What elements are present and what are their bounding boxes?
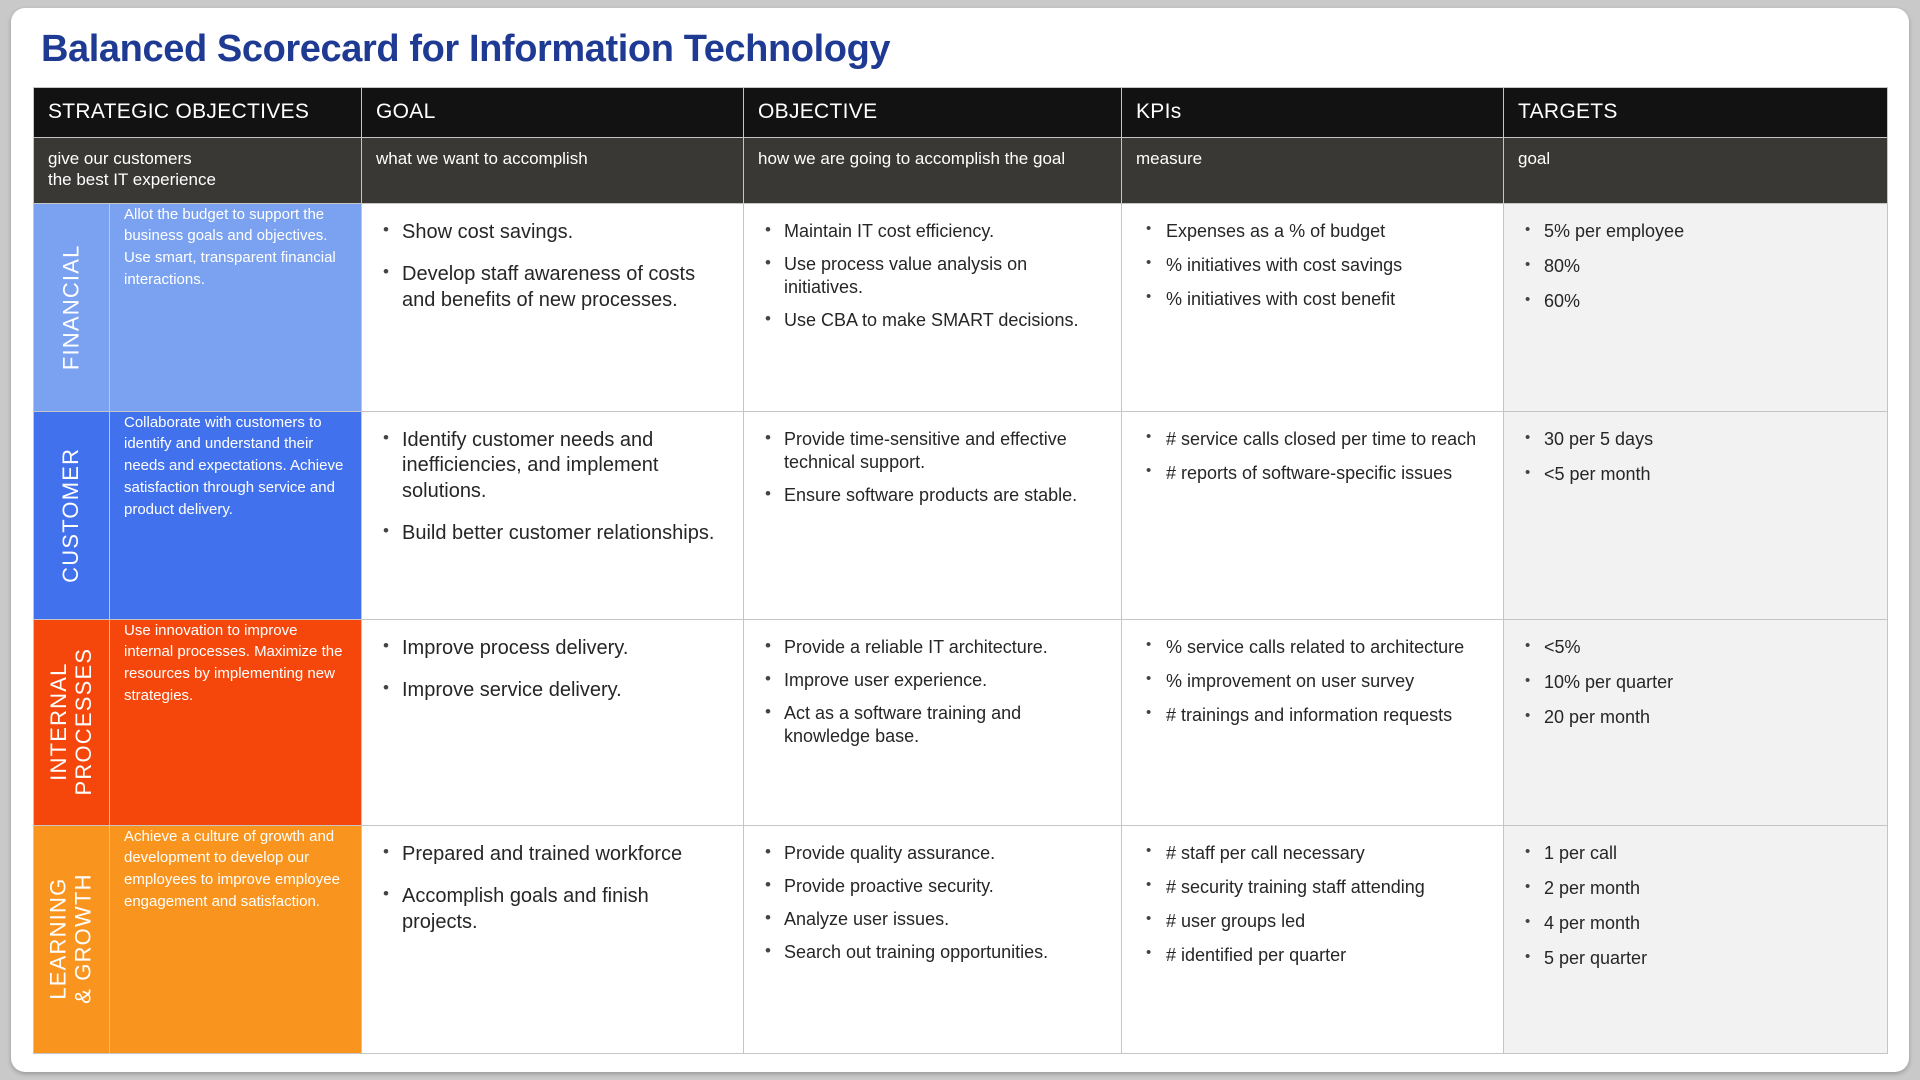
perspective-description-learning-growth: Achieve a culture of growth and developm… <box>110 825 362 1053</box>
target-item: 5 per quarter <box>1522 947 1869 970</box>
goal-item: Show cost savings. <box>380 220 725 246</box>
target-cell-customer: 30 per 5 days<5 per month <box>1504 411 1888 619</box>
perspective-description-customer: Collaborate with customers to identify a… <box>110 411 362 619</box>
perspective-label-rotator: LEARNING& GROWTH <box>34 826 109 1053</box>
objective-item: Use CBA to make SMART decisions. <box>762 309 1103 332</box>
subheader-strategic-objectives: give our customers the best IT experienc… <box>34 138 362 204</box>
kpi-list: % service calls related to architecture%… <box>1140 636 1485 727</box>
target-cell-learning-growth: 1 per call2 per month4 per month5 per qu… <box>1504 825 1888 1053</box>
perspective-label-financial: FINANCIAL <box>34 203 110 411</box>
kpi-item: Expenses as a % of budget <box>1140 220 1485 243</box>
goal-item: Accomplish goals and finish projects. <box>380 884 725 935</box>
objective-item: Analyze user issues. <box>762 908 1103 931</box>
goal-cell-learning-growth: Prepared and trained workforceAccomplish… <box>362 825 744 1053</box>
goal-item: Prepared and trained workforce <box>380 842 725 868</box>
scorecard-row-learning-growth: LEARNING& GROWTHAchieve a culture of gro… <box>34 825 1888 1053</box>
target-item: <5 per month <box>1522 463 1869 486</box>
objective-cell-learning-growth: Provide quality assurance.Provide proact… <box>744 825 1122 1053</box>
subheader-strategic-line1: give our customers <box>48 148 347 169</box>
target-item: 30 per 5 days <box>1522 428 1869 451</box>
target-item: <5% <box>1522 636 1869 659</box>
perspective-label-text: LEARNING& GROWTH <box>47 874 96 1005</box>
scorecard-row-internal-processes: INTERNALPROCESSESUse innovation to impro… <box>34 619 1888 825</box>
kpi-list: # staff per call necessary# security tra… <box>1140 842 1485 967</box>
kpi-item: # user groups led <box>1140 910 1485 933</box>
goal-list: Prepared and trained workforceAccomplish… <box>380 842 725 936</box>
target-list: 5% per employee80%60% <box>1522 220 1869 313</box>
objective-list: Provide a reliable IT architecture.Impro… <box>762 636 1103 748</box>
objective-item: Provide proactive security. <box>762 875 1103 898</box>
target-item: 5% per employee <box>1522 220 1869 243</box>
scorecard-row-customer: CUSTOMERCollaborate with customers to id… <box>34 411 1888 619</box>
objective-item: Act as a software training and knowledge… <box>762 702 1103 748</box>
goal-item: Identify customer needs and inefficienci… <box>380 428 725 505</box>
target-cell-financial: 5% per employee80%60% <box>1504 203 1888 411</box>
goal-item: Build better customer relationships. <box>380 521 725 547</box>
page-title: Balanced Scorecard for Information Techn… <box>33 8 1887 87</box>
objective-item: Improve user experience. <box>762 669 1103 692</box>
target-item: 20 per month <box>1522 706 1869 729</box>
goal-item: Develop staff awareness of costs and ben… <box>380 262 725 313</box>
objective-list: Provide quality assurance.Provide proact… <box>762 842 1103 964</box>
goal-cell-internal-processes: Improve process delivery.Improve service… <box>362 619 744 825</box>
page-root: Balanced Scorecard for Information Techn… <box>0 0 1920 1080</box>
objective-item: Use process value analysis on initiative… <box>762 253 1103 299</box>
objective-item: Provide quality assurance. <box>762 842 1103 865</box>
perspective-label-internal-processes: INTERNALPROCESSES <box>34 619 110 825</box>
objective-item: Provide a reliable IT architecture. <box>762 636 1103 659</box>
header-strategic-objectives: STRATEGIC OBJECTIVES <box>34 88 362 138</box>
target-list: 30 per 5 days<5 per month <box>1522 428 1869 486</box>
goal-list: Identify customer needs and inefficienci… <box>380 428 725 547</box>
header-kpis: KPIs <box>1122 88 1504 138</box>
target-cell-internal-processes: <5%10% per quarter20 per month <box>1504 619 1888 825</box>
header-targets: TARGETS <box>1504 88 1888 138</box>
target-list: 1 per call2 per month4 per month5 per qu… <box>1522 842 1869 970</box>
target-item: 2 per month <box>1522 877 1869 900</box>
objective-item: Maintain IT cost efficiency. <box>762 220 1103 243</box>
kpi-item: # identified per quarter <box>1140 944 1485 967</box>
goal-item: Improve service delivery. <box>380 678 725 704</box>
subheader-targets: goal <box>1504 138 1888 204</box>
target-item: 60% <box>1522 290 1869 313</box>
target-item: 4 per month <box>1522 912 1869 935</box>
objective-cell-internal-processes: Provide a reliable IT architecture.Impro… <box>744 619 1122 825</box>
kpi-cell-learning-growth: # staff per call necessary# security tra… <box>1122 825 1504 1053</box>
scorecard-card: Balanced Scorecard for Information Techn… <box>11 8 1909 1072</box>
subheader-strategic-line2: the best IT experience <box>48 169 347 190</box>
kpi-list: Expenses as a % of budget% initiatives w… <box>1140 220 1485 311</box>
objective-item: Search out training opportunities. <box>762 941 1103 964</box>
kpi-item: % initiatives with cost savings <box>1140 254 1485 277</box>
perspective-label-rotator: FINANCIAL <box>34 204 109 411</box>
kpi-item: % improvement on user survey <box>1140 670 1485 693</box>
table-header-row: STRATEGIC OBJECTIVES GOAL OBJECTIVE KPIs… <box>34 88 1888 138</box>
target-item: 10% per quarter <box>1522 671 1869 694</box>
subheader-goal: what we want to accomplish <box>362 138 744 204</box>
goal-list: Improve process delivery.Improve service… <box>380 636 725 704</box>
kpi-item: % service calls related to architecture <box>1140 636 1485 659</box>
perspective-label-text: INTERNALPROCESSES <box>47 648 96 796</box>
perspective-label-customer: CUSTOMER <box>34 411 110 619</box>
header-goal: GOAL <box>362 88 744 138</box>
goal-list: Show cost savings.Develop staff awarenes… <box>380 220 725 314</box>
target-item: 1 per call <box>1522 842 1869 865</box>
objective-cell-financial: Maintain IT cost efficiency.Use process … <box>744 203 1122 411</box>
perspective-label-text: FINANCIAL <box>59 244 84 370</box>
perspective-label-learning-growth: LEARNING& GROWTH <box>34 825 110 1053</box>
scorecard-row-financial: FINANCIALAllot the budget to support the… <box>34 203 1888 411</box>
kpi-cell-internal-processes: % service calls related to architecture%… <box>1122 619 1504 825</box>
kpi-item: % initiatives with cost benefit <box>1140 288 1485 311</box>
kpi-list: # service calls closed per time to reach… <box>1140 428 1485 485</box>
objective-list: Provide time-sensitive and effective tec… <box>762 428 1103 507</box>
perspective-description-financial: Allot the budget to support the business… <box>110 203 362 411</box>
kpi-cell-customer: # service calls closed per time to reach… <box>1122 411 1504 619</box>
table-subheader-row: give our customers the best IT experienc… <box>34 138 1888 204</box>
goal-cell-financial: Show cost savings.Develop staff awarenes… <box>362 203 744 411</box>
kpi-item: # reports of software-specific issues <box>1140 462 1485 485</box>
scorecard-body: FINANCIALAllot the budget to support the… <box>34 203 1888 1053</box>
target-list: <5%10% per quarter20 per month <box>1522 636 1869 729</box>
perspective-label-rotator: CUSTOMER <box>34 412 109 619</box>
objective-cell-customer: Provide time-sensitive and effective tec… <box>744 411 1122 619</box>
kpi-item: # security training staff attending <box>1140 876 1485 899</box>
kpi-item: # trainings and information requests <box>1140 704 1485 727</box>
kpi-cell-financial: Expenses as a % of budget% initiatives w… <box>1122 203 1504 411</box>
perspective-description-internal-processes: Use innovation to improve internal proce… <box>110 619 362 825</box>
balanced-scorecard-table: STRATEGIC OBJECTIVES GOAL OBJECTIVE KPIs… <box>33 87 1888 1054</box>
target-item: 80% <box>1522 255 1869 278</box>
goal-cell-customer: Identify customer needs and inefficienci… <box>362 411 744 619</box>
perspective-label-rotator: INTERNALPROCESSES <box>34 620 109 825</box>
objective-item: Ensure software products are stable. <box>762 484 1103 507</box>
header-objective: OBJECTIVE <box>744 88 1122 138</box>
subheader-objective: how we are going to accomplish the goal <box>744 138 1122 204</box>
goal-item: Improve process delivery. <box>380 636 725 662</box>
objective-list: Maintain IT cost efficiency.Use process … <box>762 220 1103 332</box>
kpi-item: # staff per call necessary <box>1140 842 1485 865</box>
objective-item: Provide time-sensitive and effective tec… <box>762 428 1103 474</box>
kpi-item: # service calls closed per time to reach <box>1140 428 1485 451</box>
perspective-label-text: CUSTOMER <box>59 447 84 582</box>
subheader-kpis: measure <box>1122 138 1504 204</box>
